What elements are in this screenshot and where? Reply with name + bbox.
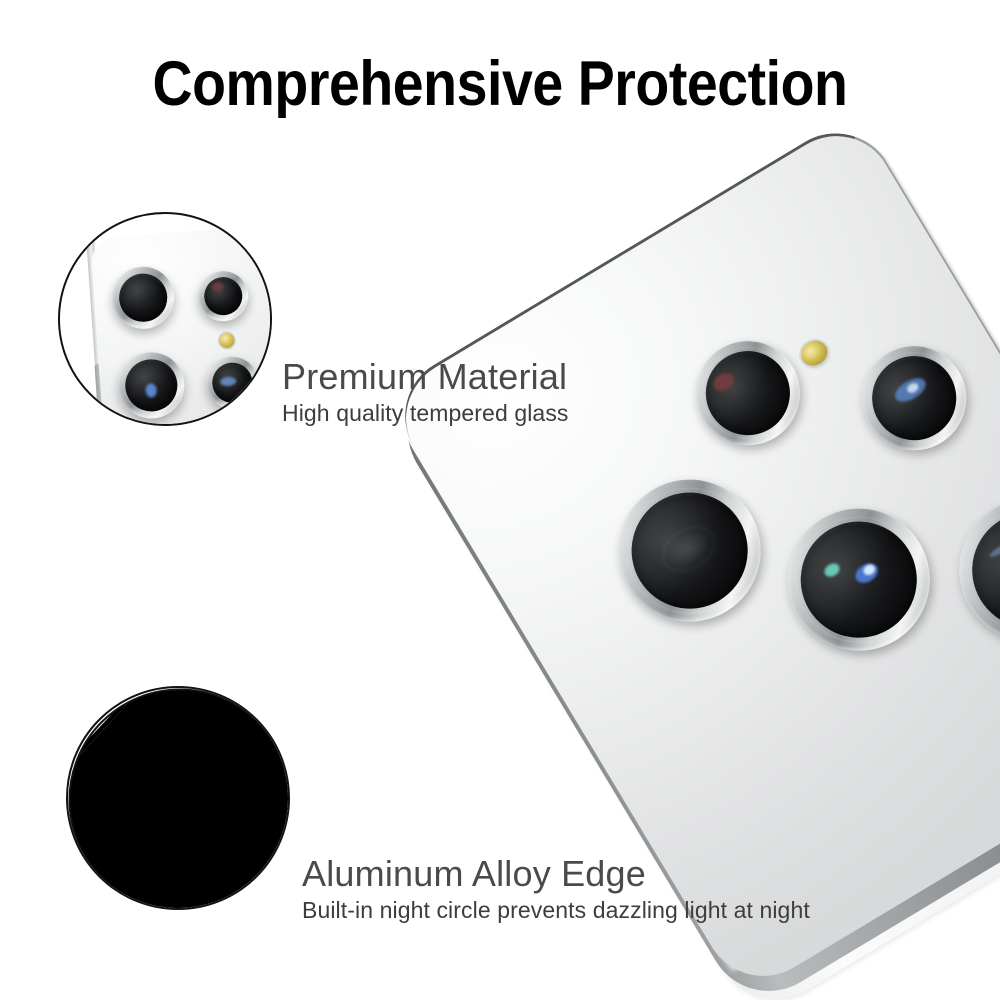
callout-lens-mid-right (205, 355, 261, 411)
feature-subtitle: Built-in night circle prevents dazzling … (302, 897, 810, 925)
callout-lens-mid-left (116, 350, 186, 420)
feature-title: Premium Material (282, 358, 569, 396)
callout-gloss-1 (118, 272, 169, 323)
feature-title: Aluminum Alloy Edge (302, 855, 810, 893)
feature-premium-material: Premium Material High quality tempered g… (282, 358, 569, 427)
callout-gloss-2 (203, 276, 244, 317)
product-feature-image: Comprehensive Protection (0, 0, 1000, 1000)
callout-lens-top-left (110, 265, 176, 331)
callout-lens-glass-3 (124, 358, 180, 414)
callout-flare-blue-1 (145, 383, 157, 398)
callout-machined-edge (66, 686, 290, 910)
callout-phone-back (90, 222, 272, 426)
callout-led-flash (219, 333, 235, 349)
callout-camera-module (58, 212, 272, 426)
feature-aluminum-alloy-edge: Aluminum Alloy Edge Built-in night circl… (302, 855, 810, 924)
callout-lens-glass-4 (211, 361, 254, 404)
callout-lens-top-right (197, 269, 250, 322)
callout-lens-glass-1 (118, 272, 169, 323)
machined-edge-artwork (68, 688, 290, 910)
callout-lens-glass-2 (203, 276, 244, 317)
feature-subtitle: High quality tempered glass (282, 400, 569, 428)
